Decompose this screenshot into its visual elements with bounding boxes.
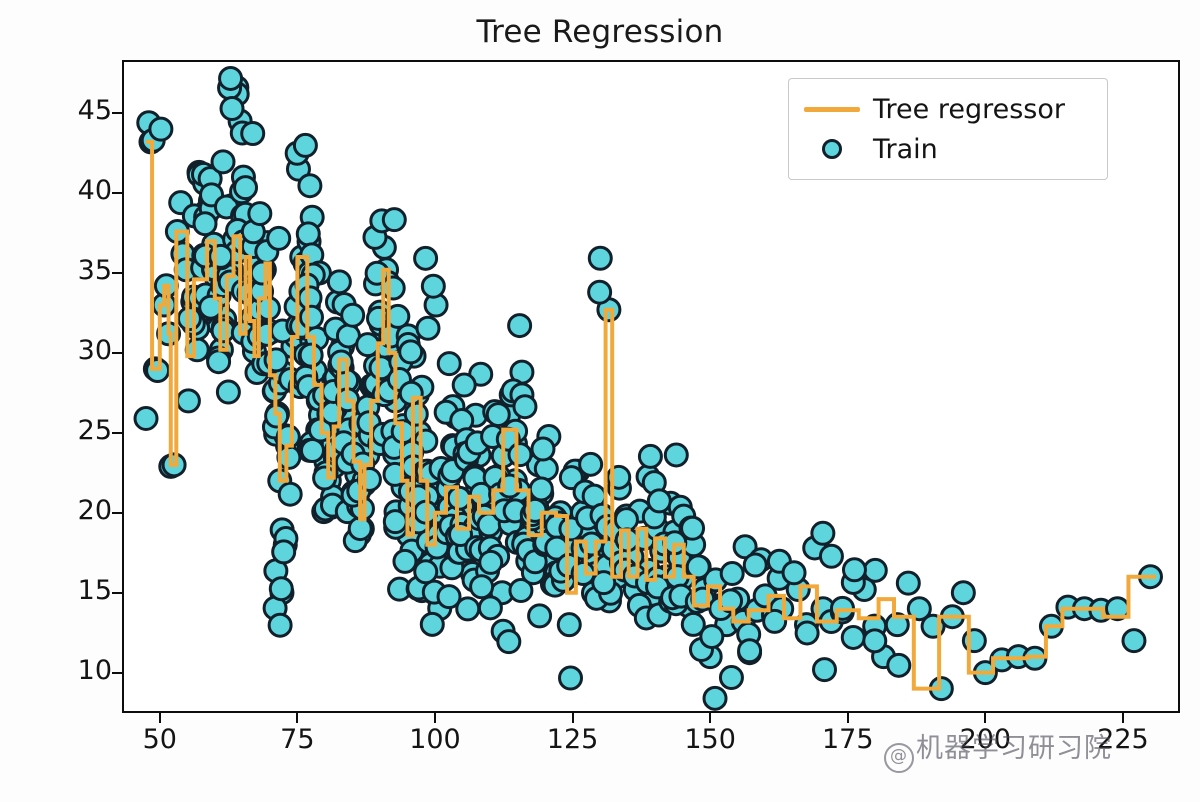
scatter-point [558, 614, 580, 636]
y-tick-mark [112, 192, 122, 194]
scatter-point [279, 483, 301, 505]
scatter-point [438, 353, 460, 375]
scatter-point [268, 227, 290, 249]
scatter-point [701, 626, 723, 648]
scatter-point [682, 517, 704, 539]
legend-label-tree-regressor: Tree regressor [863, 94, 1065, 125]
scatter-point [820, 545, 842, 567]
scatter-point [208, 351, 230, 373]
scatter-point [301, 306, 323, 328]
scatter-point [400, 341, 422, 363]
legend-line-swatch [801, 107, 863, 112]
scatter-point [270, 578, 292, 600]
scatter-point [249, 203, 271, 225]
scatter-point [530, 478, 552, 500]
scatter-point [487, 404, 509, 426]
x-tick-label: 125 [513, 724, 633, 755]
scatter-point [405, 403, 427, 425]
chart-figure: Tree Regression 1015202530354045 5075100… [0, 0, 1200, 802]
scatter-point [328, 271, 350, 293]
scatter-point [665, 444, 687, 466]
scatter-point [648, 490, 670, 512]
x-tick-label: 150 [650, 724, 770, 755]
y-tick-label: 40 [0, 175, 126, 206]
scatter-point [864, 559, 886, 581]
x-tick-mark [1122, 713, 1124, 723]
legend-label-train: Train [863, 134, 938, 165]
scatter-point [221, 98, 243, 120]
scatter-point [394, 550, 416, 572]
x-tick-mark [847, 713, 849, 723]
scatter-point [421, 613, 443, 635]
scatter-point [212, 151, 234, 173]
scatter-point [580, 453, 602, 475]
x-tick-label: 225 [1063, 724, 1183, 755]
y-tick-label: 15 [0, 575, 126, 606]
scatter-point [783, 562, 805, 584]
y-tick-mark [112, 432, 122, 434]
legend-marker-swatch [801, 139, 863, 159]
x-tick-label: 50 [100, 724, 220, 755]
scatter-point [294, 134, 316, 156]
scatter-point [639, 445, 661, 467]
x-tick-label: 175 [788, 724, 908, 755]
scatter-point [415, 561, 437, 583]
x-tick-mark [434, 713, 436, 723]
scatter-point [242, 123, 264, 145]
y-tick-mark [112, 272, 122, 274]
scatter-point [422, 275, 444, 297]
scatter-point [615, 509, 637, 531]
scatter-point [864, 630, 886, 652]
scatter-point [415, 247, 437, 269]
scatter-point [194, 213, 216, 235]
y-tick-mark [112, 672, 122, 674]
scatter-point [273, 541, 295, 563]
x-tick-mark [709, 713, 711, 723]
scatter-point [235, 177, 257, 199]
scatter-point [509, 315, 531, 337]
scatter-point [150, 118, 172, 140]
scatter-point [177, 390, 199, 412]
y-tick-mark [112, 112, 122, 114]
legend-entry-tree-regressor[interactable]: Tree regressor [801, 89, 1093, 129]
scatter-point [812, 522, 834, 544]
scatter-point [480, 551, 502, 573]
scatter-point [514, 396, 536, 418]
x-tick-label: 200 [925, 724, 1045, 755]
scatter-point [178, 308, 200, 330]
scatter-point [744, 554, 766, 576]
scatter-point [382, 277, 404, 299]
scatter-point [720, 667, 742, 689]
scatter-point [687, 556, 709, 578]
y-tick-mark [112, 352, 122, 354]
scatter-point [301, 440, 323, 462]
scatter-point [535, 458, 557, 480]
scatter-point [842, 626, 864, 648]
scatter-point [417, 317, 439, 339]
scatter-point [300, 344, 322, 366]
y-tick-label: 35 [0, 255, 126, 286]
scatter-point [269, 614, 291, 636]
x-tick-label: 100 [375, 724, 495, 755]
scatter-point [509, 444, 531, 466]
scatter-point [217, 381, 239, 403]
scatter-point [357, 334, 379, 356]
scatter-point [220, 67, 242, 89]
y-tick-label: 20 [0, 495, 126, 526]
scatter-point [721, 563, 743, 585]
x-tick-mark [984, 713, 986, 723]
x-tick-label: 75 [237, 724, 357, 755]
scatter-point [843, 559, 865, 581]
scatter-point [560, 667, 582, 689]
legend-box[interactable]: Tree regressor Train [788, 78, 1108, 180]
scatter-point [952, 582, 974, 604]
page-title: Tree Regression [0, 14, 1200, 50]
scatter-point [888, 654, 910, 676]
scatter-point [212, 320, 234, 342]
x-tick-mark [572, 713, 574, 723]
scatter-point [453, 374, 475, 396]
y-tick-label: 25 [0, 415, 126, 446]
x-tick-mark [296, 713, 298, 723]
scatter-point [299, 175, 321, 197]
scatter-point [897, 572, 919, 594]
scatter-point [457, 598, 479, 620]
scatter-point [532, 438, 554, 460]
scatter-point [471, 576, 493, 598]
scatter-point [814, 659, 836, 681]
scatter-point [704, 687, 726, 709]
scatter-point [342, 304, 364, 326]
scatter-point [479, 597, 501, 619]
scatter-point [739, 640, 761, 662]
scatter-point [963, 630, 985, 652]
scatter-point [796, 622, 818, 644]
y-tick-label: 10 [0, 655, 126, 686]
scatter-point [498, 631, 520, 653]
y-tick-mark [112, 512, 122, 514]
scatter-point [589, 247, 611, 269]
scatter-point [297, 223, 319, 245]
y-tick-mark [112, 592, 122, 594]
x-tick-mark [159, 713, 161, 723]
legend-entry-train[interactable]: Train [801, 129, 1093, 169]
y-tick-label: 30 [0, 335, 126, 366]
y-tick-label: 45 [0, 95, 126, 126]
scatter-point [135, 407, 157, 429]
scatter-point [1123, 630, 1145, 652]
scatter-point [383, 209, 405, 231]
scatter-point [529, 605, 551, 627]
scatter-point [589, 281, 611, 303]
